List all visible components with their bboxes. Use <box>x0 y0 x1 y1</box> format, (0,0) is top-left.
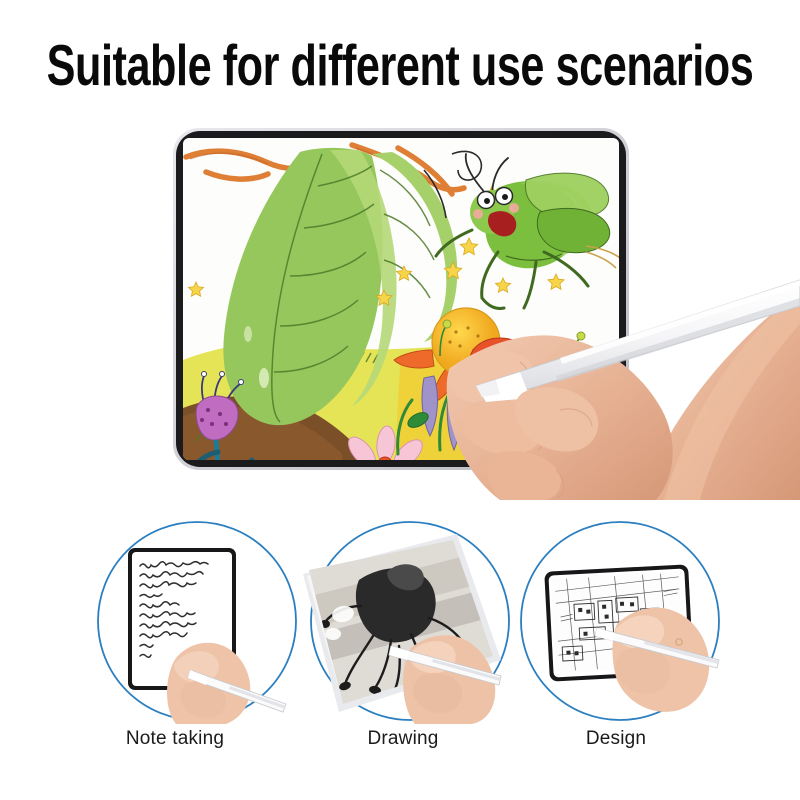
label-design: Design <box>509 728 723 750</box>
scenario-drawing[interactable] <box>303 518 517 724</box>
scenario-note-taking[interactable] <box>90 518 304 724</box>
product-marketing-page: Suitable for different use scenarios <box>0 0 800 800</box>
label-note-taking: Note taking <box>68 728 282 750</box>
scenario-design[interactable] <box>513 518 727 724</box>
scenario-labels: Note taking Drawing Design <box>0 728 800 768</box>
scenarios-row <box>0 518 800 748</box>
orange-left-flower <box>160 484 258 500</box>
page-title: Suitable for different use scenarios <box>32 36 768 93</box>
hero-section <box>0 110 800 500</box>
hand-with-stylus <box>167 643 286 724</box>
label-drawing: Drawing <box>296 728 510 750</box>
